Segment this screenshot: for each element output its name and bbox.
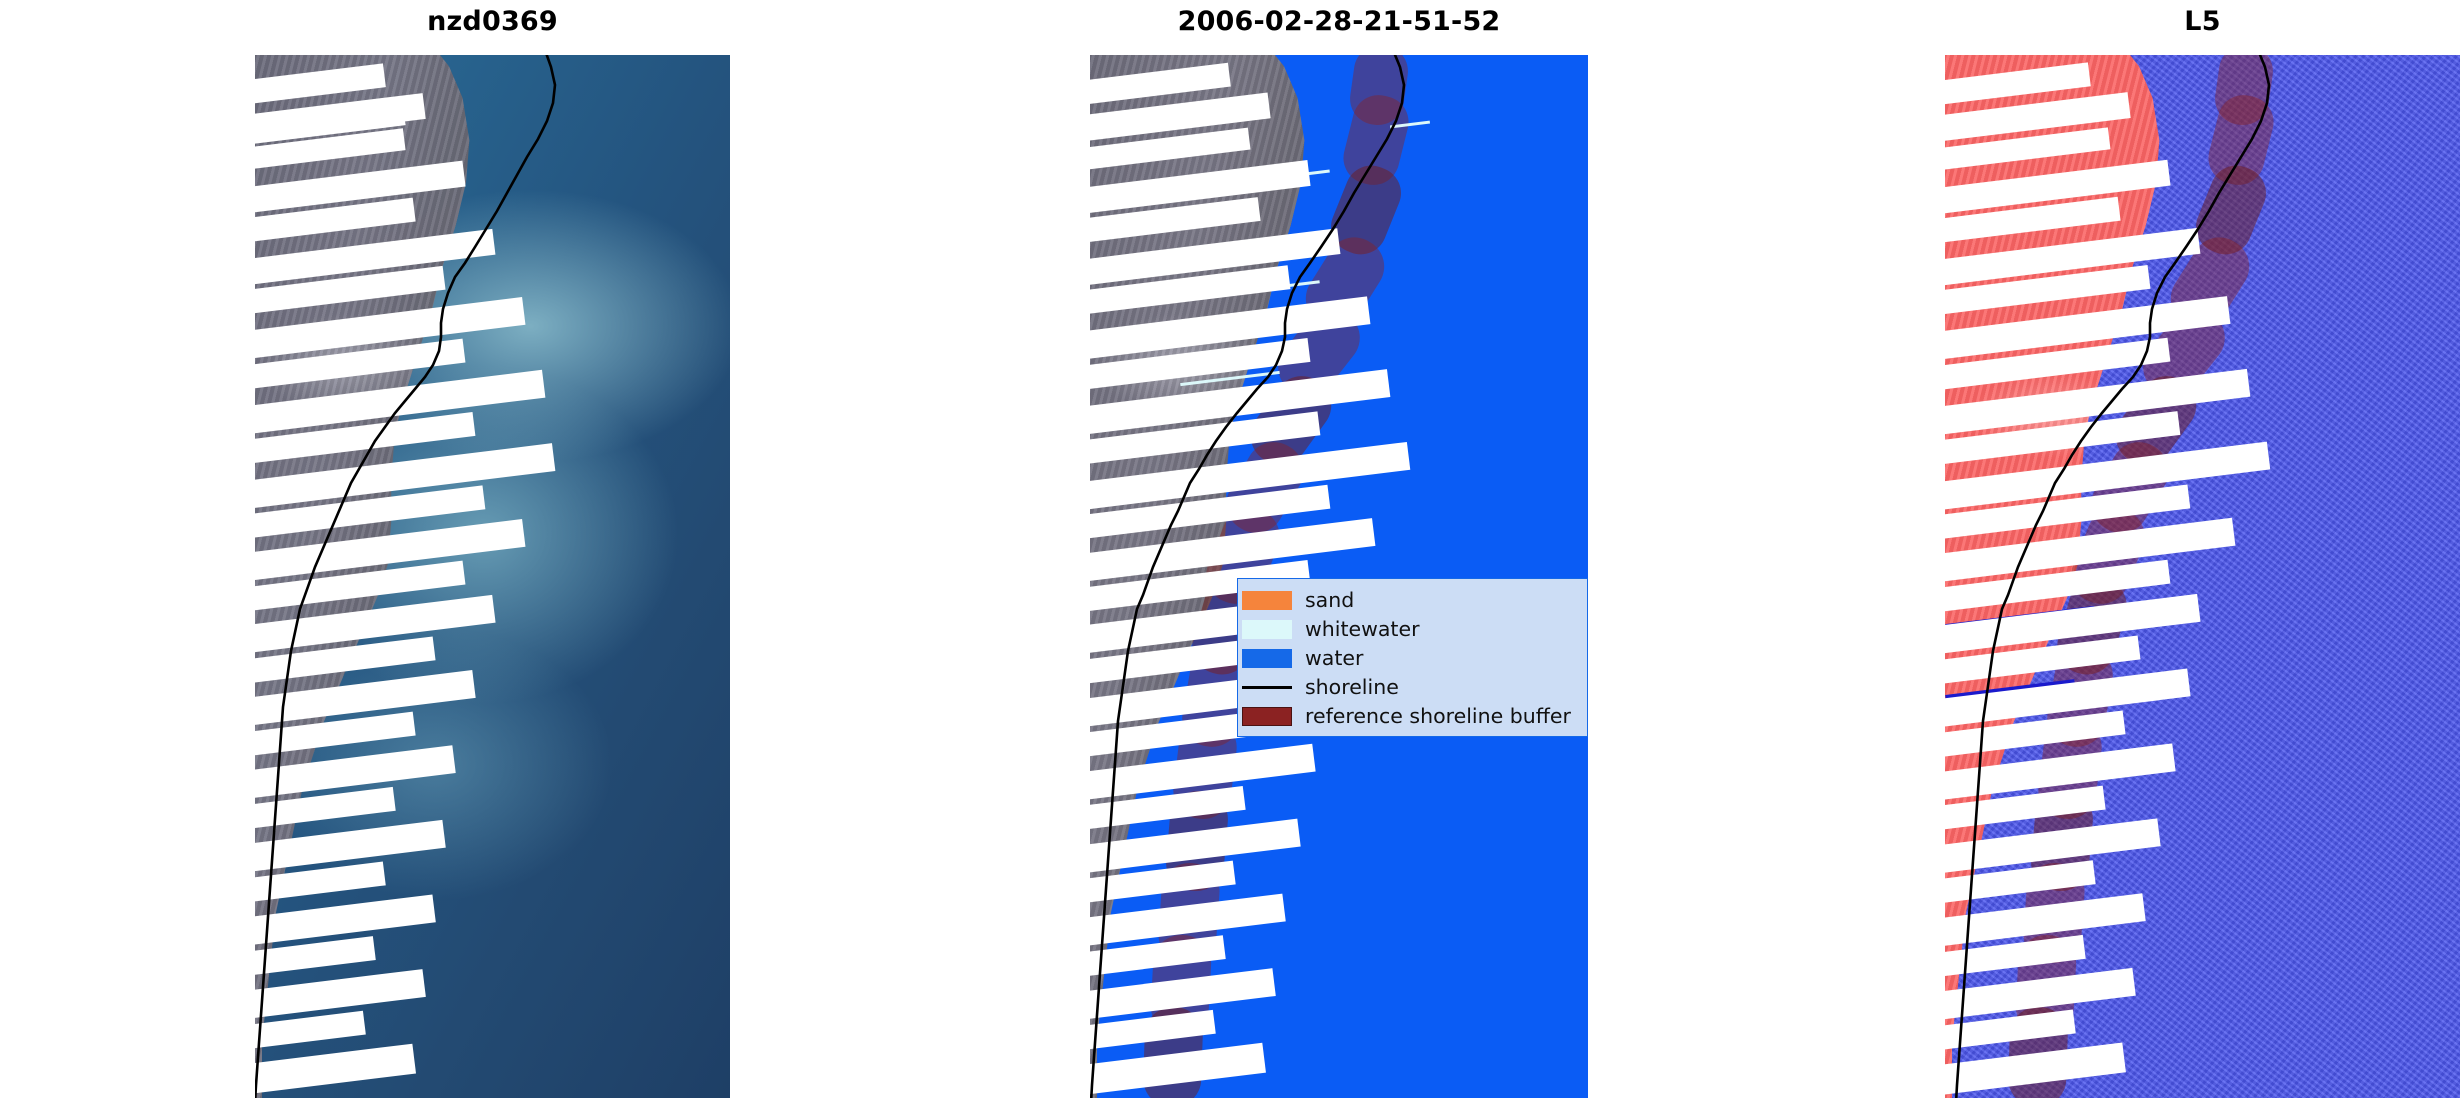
shoreline-polyline bbox=[1090, 55, 1588, 1098]
panel-index-image bbox=[1945, 55, 2460, 1098]
legend-item-water: water bbox=[1238, 644, 1587, 673]
shoreline-line-icon bbox=[1242, 686, 1292, 689]
panel-title-rgb: nzd0369 bbox=[255, 2, 730, 42]
shoreline-polyline bbox=[255, 55, 730, 1098]
legend-label-buffer: reference shoreline buffer bbox=[1305, 706, 1571, 727]
rgb-scene bbox=[255, 55, 730, 1098]
legend-label-sand: sand bbox=[1305, 590, 1354, 611]
legend-item-whitewater: whitewater bbox=[1238, 615, 1587, 644]
buffer-swatch-icon bbox=[1242, 707, 1292, 726]
legend-item-buffer: reference shoreline buffer bbox=[1238, 702, 1587, 731]
water-swatch-icon bbox=[1242, 649, 1292, 668]
legend-label-water: water bbox=[1305, 648, 1363, 669]
panel-classification-image: sand whitewater water shoreline referenc… bbox=[1090, 55, 1588, 1098]
sand-swatch-icon bbox=[1242, 591, 1292, 610]
legend-item-shoreline: shoreline bbox=[1238, 673, 1587, 702]
shoreline-polyline bbox=[1945, 55, 2460, 1098]
legend-item-sand: sand bbox=[1238, 586, 1587, 615]
index-scene bbox=[1945, 55, 2460, 1098]
figure-canvas: nzd0369 2006-02-28-21-51-52 L5 bbox=[0, 0, 2460, 1098]
legend-box: sand whitewater water shoreline referenc… bbox=[1237, 578, 1588, 737]
panel-title-index: L5 bbox=[1945, 2, 2460, 42]
panel-title-classification: 2006-02-28-21-51-52 bbox=[1090, 2, 1588, 42]
whitewater-swatch-icon bbox=[1242, 620, 1292, 639]
panel-rgb-image bbox=[255, 55, 730, 1098]
classification-scene bbox=[1090, 55, 1588, 1098]
legend-label-shoreline: shoreline bbox=[1305, 677, 1399, 698]
legend-label-whitewater: whitewater bbox=[1305, 619, 1420, 640]
